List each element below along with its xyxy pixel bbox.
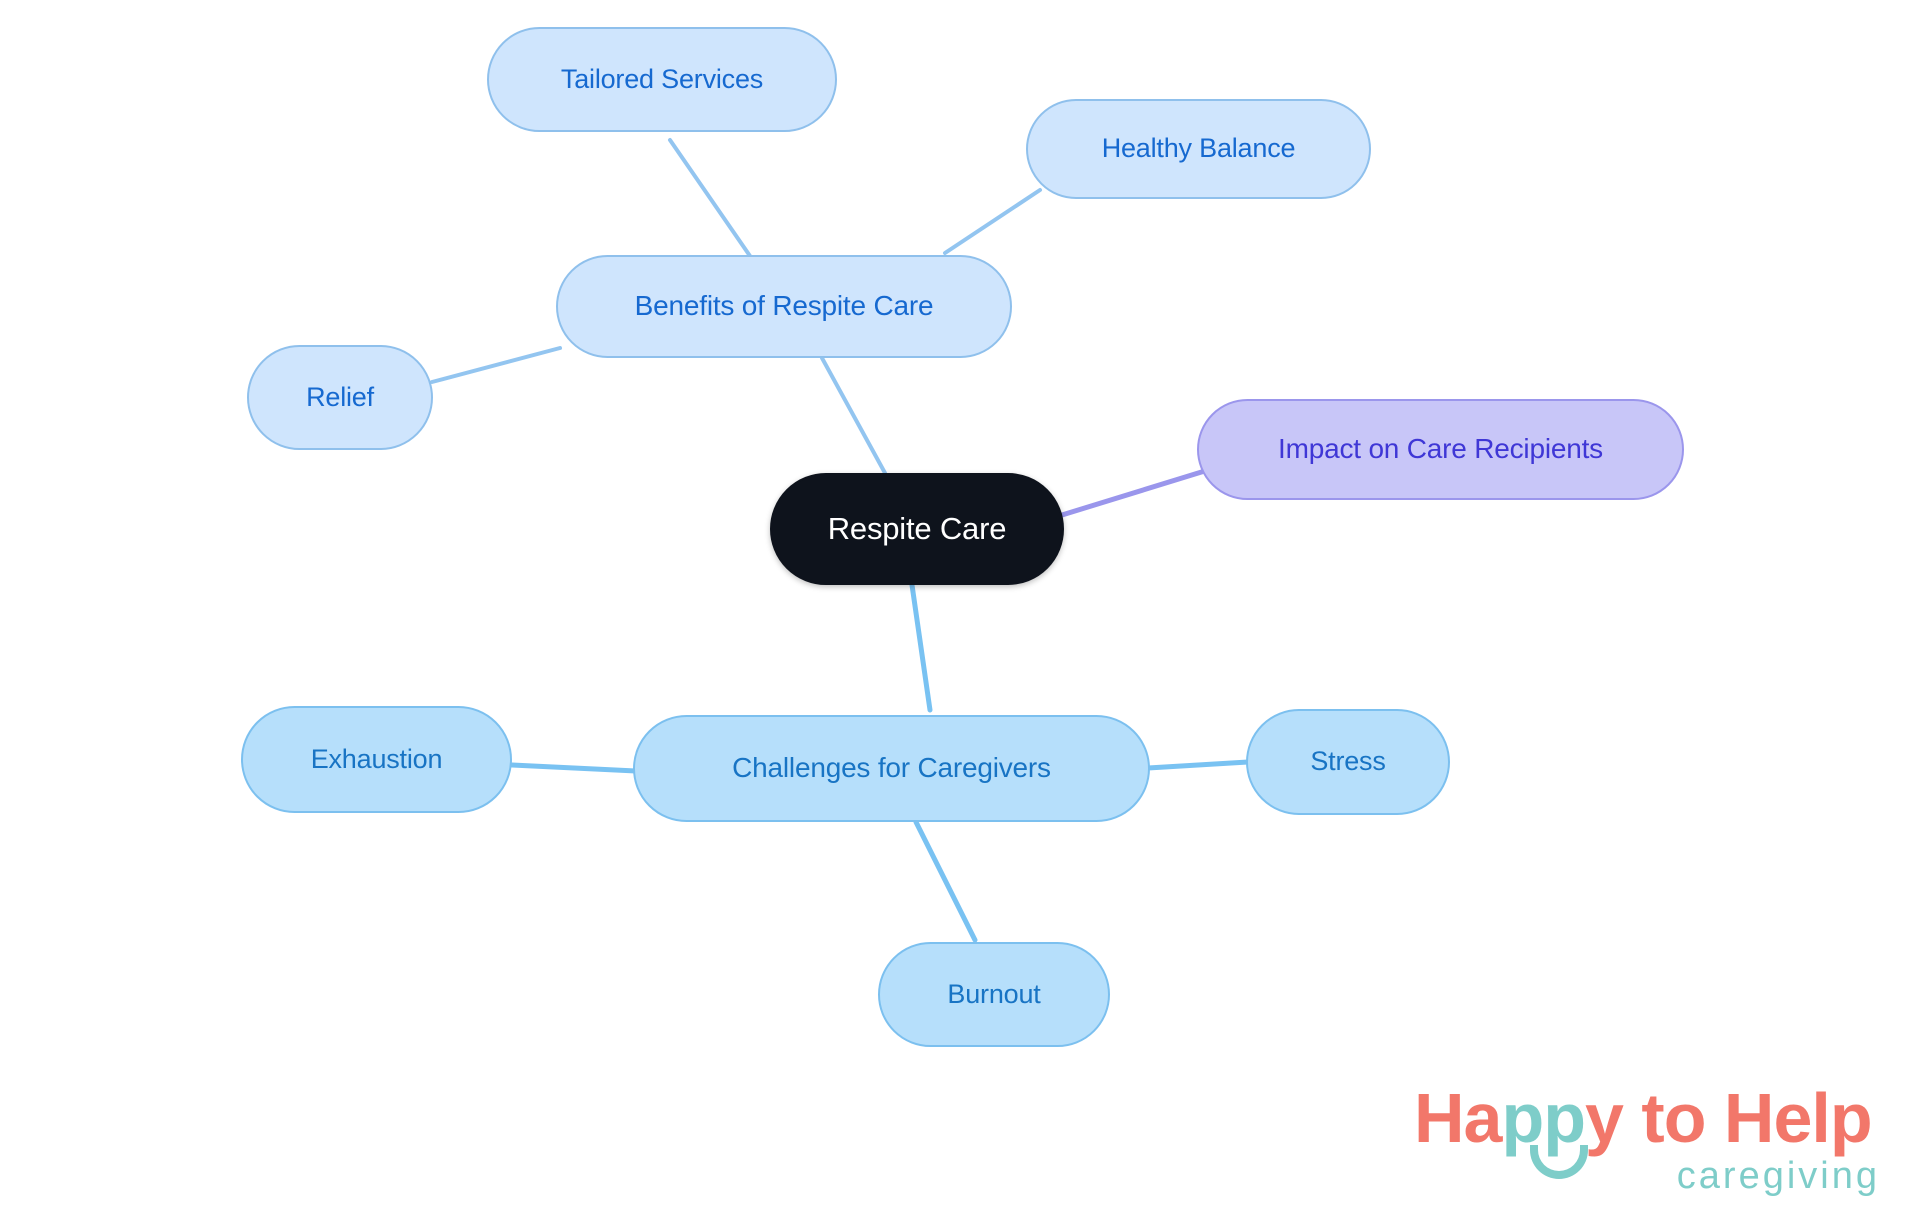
- edge-challenges-to-burnout: [916, 822, 975, 940]
- mindmap-node-exhaustion[interactable]: Exhaustion: [241, 706, 512, 813]
- logo-tagline: caregiving: [1677, 1157, 1880, 1195]
- edge-challenges-to-stress: [1148, 762, 1248, 768]
- mindmap-node-burnout[interactable]: Burnout: [878, 942, 1110, 1047]
- mindmap-node-healthy-balance[interactable]: Healthy Balance: [1026, 99, 1371, 199]
- brand-logo: Happy to Help caregiving: [1414, 1083, 1884, 1201]
- edge-benefits-to-relief: [432, 348, 560, 382]
- node-label-benefits-of-respite-care: Benefits of Respite Care: [635, 291, 934, 322]
- logo-word-part-2: y to Help: [1585, 1079, 1872, 1157]
- node-label-exhaustion: Exhaustion: [311, 745, 443, 775]
- node-label-challenges-for-caregivers: Challenges for Caregivers: [732, 753, 1051, 784]
- logo-word-part-1: Ha: [1414, 1079, 1501, 1157]
- mindmap-node-challenges-for-caregivers[interactable]: Challenges for Caregivers: [633, 715, 1150, 822]
- edge-root-to-benefits: [822, 358, 885, 473]
- mindmap-canvas: Respite Care Benefits of Respite Care Ta…: [0, 0, 1920, 1215]
- edge-benefits-to-tailored-services: [670, 140, 750, 256]
- logo-wordmark: Happy to Help: [1414, 1083, 1872, 1153]
- node-label-healthy-balance: Healthy Balance: [1102, 134, 1296, 164]
- node-label-impact-on-care-recipients: Impact on Care Recipients: [1278, 434, 1603, 465]
- mindmap-node-relief[interactable]: Relief: [247, 345, 433, 450]
- mindmap-node-respite-care[interactable]: Respite Care: [770, 473, 1064, 585]
- smile-arc-icon: [1530, 1145, 1588, 1179]
- edge-challenges-to-exhaustion: [512, 765, 636, 771]
- node-label-stress: Stress: [1310, 747, 1385, 777]
- edge-benefits-to-healthy-balance: [945, 190, 1040, 253]
- node-label-relief: Relief: [306, 383, 374, 413]
- mindmap-node-tailored-services[interactable]: Tailored Services: [487, 27, 837, 132]
- mindmap-node-benefits-of-respite-care[interactable]: Benefits of Respite Care: [556, 255, 1012, 358]
- node-label-respite-care: Respite Care: [828, 512, 1007, 546]
- mindmap-node-impact-on-care-recipients[interactable]: Impact on Care Recipients: [1197, 399, 1684, 500]
- node-label-tailored-services: Tailored Services: [561, 65, 763, 95]
- node-label-burnout: Burnout: [947, 980, 1040, 1010]
- mindmap-node-stress[interactable]: Stress: [1246, 709, 1450, 815]
- edge-root-to-challenges: [912, 585, 930, 710]
- edge-root-to-impact: [1062, 470, 1208, 515]
